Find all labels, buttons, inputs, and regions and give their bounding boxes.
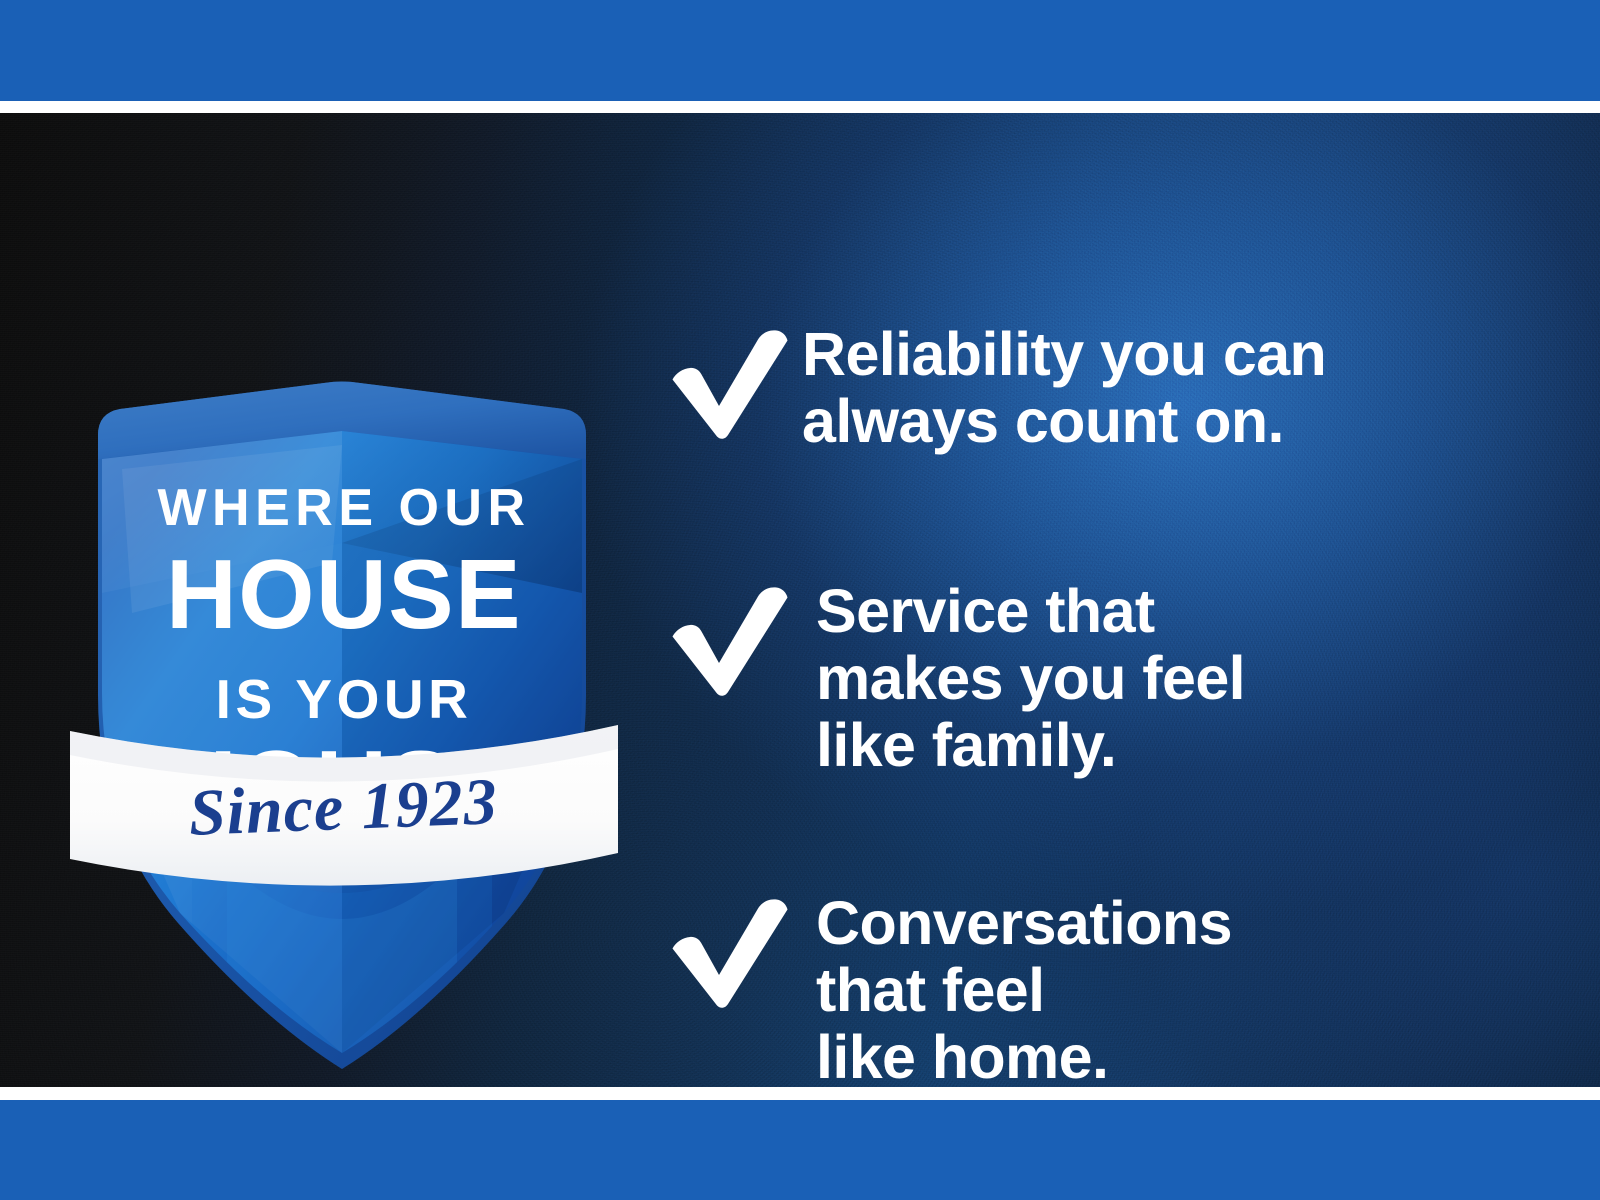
benefit-item-conversations: Conversations that feel like home. (666, 890, 1526, 1087)
benefit-text: Conversations that feel like home. (816, 890, 1232, 1087)
benefit-text: Reliability you can always count on. (802, 321, 1326, 455)
ribbon-text: Since 1923 (187, 765, 498, 850)
bottom-brand-bar (0, 1100, 1600, 1200)
benefit-item-service: Service that makes you feel like family. (666, 578, 1526, 778)
checkmark-icon (666, 578, 816, 696)
shield-line-2: HOUSE (166, 539, 522, 649)
top-brand-bar (0, 0, 1600, 101)
promo-graphic: WHERE OUR HOUSE IS YOUR HOUSE Since 1923 (0, 0, 1600, 1200)
benefit-text: Service that makes you feel like family. (816, 578, 1245, 778)
checkmark-icon (666, 321, 816, 439)
benefits-list: Reliability you can always count on. Ser… (666, 226, 1526, 1087)
shield-line-1: WHERE OUR (157, 479, 530, 537)
shield-line-3: IS YOUR (216, 668, 473, 730)
logo-badge: WHERE OUR HOUSE IS YOUR HOUSE Since 1923 (62, 263, 622, 1063)
checkmark-icon (666, 890, 816, 1008)
content-panel: WHERE OUR HOUSE IS YOUR HOUSE Since 1923 (0, 113, 1600, 1087)
benefit-item-reliability: Reliability you can always count on. (666, 321, 1526, 455)
